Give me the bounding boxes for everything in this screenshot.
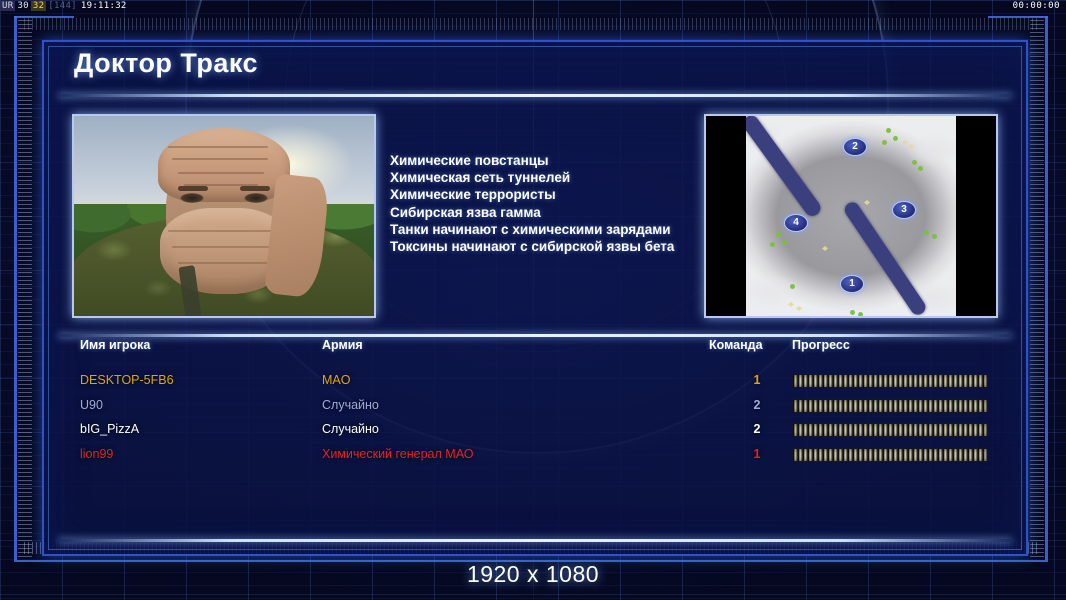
description-line: Сибирская язва гамма xyxy=(390,204,674,221)
portrait-eyes xyxy=(178,190,270,206)
player-rows: DESKTOP-5FB6 MAO 1 U90 Случайно 2 bIG_Pi… xyxy=(72,368,998,466)
description-line: Химические повстанцы xyxy=(390,152,674,169)
progress-bar xyxy=(792,448,988,462)
player-team: 1 xyxy=(737,442,777,467)
player-progress xyxy=(792,423,986,435)
player-team: 2 xyxy=(737,417,777,442)
ruler-left xyxy=(18,16,32,558)
player-progress xyxy=(792,448,986,460)
map-start-position[interactable]: 2 xyxy=(843,138,867,156)
map-start-position[interactable]: 4 xyxy=(784,214,808,232)
table-row[interactable]: DESKTOP-5FB6 MAO 1 xyxy=(72,368,998,393)
divider-bottom xyxy=(58,539,1012,542)
player-team: 2 xyxy=(737,393,777,418)
map-preview[interactable]: 1 2 3 4 xyxy=(704,114,998,318)
player-army: Химический генерал МАО xyxy=(322,442,473,467)
player-progress xyxy=(792,374,986,386)
general-portrait xyxy=(72,114,376,318)
resolution-label: 1920 x 1080 xyxy=(0,561,1066,588)
table-row[interactable]: U90 Случайно 2 xyxy=(72,393,998,418)
frame-edge-left xyxy=(14,16,17,560)
player-army: Случайно xyxy=(322,417,379,442)
status-value-2: 32 xyxy=(31,1,46,11)
column-header-team: Команда xyxy=(709,338,763,352)
map-start-position[interactable]: 1 xyxy=(840,275,864,293)
frame-corner-top-left xyxy=(14,16,74,18)
description-line: Химические террористы xyxy=(390,186,674,203)
column-header-army: Армия xyxy=(322,338,363,352)
status-clock: 19:11:32 xyxy=(79,1,129,11)
player-army: MAO xyxy=(322,368,350,393)
map-start-position[interactable]: 3 xyxy=(892,201,916,219)
description-line: Токсины начинают с сибирской язвы бета xyxy=(390,238,674,255)
column-header-name: Имя игрока xyxy=(80,338,150,352)
progress-bar xyxy=(792,374,988,388)
player-list-header: Имя игрока Армия Команда Прогресс xyxy=(72,338,998,360)
divider-middle xyxy=(58,334,1012,337)
game-lobby-panel: Доктор Тракс xyxy=(42,40,1028,556)
description-line: Танки начинают с химическими зарядами xyxy=(390,221,674,238)
table-row[interactable]: lion99 Химический генерал МАО 1 xyxy=(72,442,998,467)
player-list: Имя игрока Армия Команда Прогресс DESKTO… xyxy=(72,338,998,514)
player-name: lion99 xyxy=(80,442,113,467)
player-name: bIG_PizzA xyxy=(80,417,139,442)
table-row[interactable]: bIG_PizzA Случайно 2 xyxy=(72,417,998,442)
player-name: U90 xyxy=(80,393,103,418)
map-river xyxy=(842,200,928,316)
status-bracket: [144] xyxy=(46,1,79,11)
progress-bar xyxy=(792,399,988,413)
status-value-1: 30 xyxy=(15,1,30,11)
ruler-top xyxy=(24,18,1040,30)
description-line: Химическая сеть туннелей xyxy=(390,169,674,186)
frame-corner-top-right xyxy=(988,16,1048,18)
ruler-right xyxy=(1030,16,1044,558)
faction-description: Химические повстанцы Химическая сеть тун… xyxy=(382,114,696,314)
panel-titlebar: Доктор Тракс xyxy=(44,42,1026,90)
player-army: Случайно xyxy=(322,393,379,418)
status-label: UR xyxy=(0,1,15,11)
debug-status-bar: UR3032[144]19:11:32 xyxy=(0,0,1066,13)
briefing-row: Химические повстанцы Химическая сеть тун… xyxy=(72,114,998,314)
faction-description-list: Химические повстанцы Химическая сеть тун… xyxy=(390,152,674,255)
divider-title xyxy=(58,94,1012,97)
progress-bar xyxy=(792,423,988,437)
map-river xyxy=(746,116,823,219)
column-header-progress: Прогресс xyxy=(792,338,850,352)
page-title: Доктор Тракс xyxy=(74,48,258,79)
map-preview-image: 1 2 3 4 xyxy=(746,116,956,316)
player-progress xyxy=(792,399,986,411)
player-name: DESKTOP-5FB6 xyxy=(80,368,174,393)
player-team: 1 xyxy=(737,368,777,393)
frame-edge-right xyxy=(1045,16,1048,560)
session-timer: 00:00:00 xyxy=(1013,0,1060,13)
